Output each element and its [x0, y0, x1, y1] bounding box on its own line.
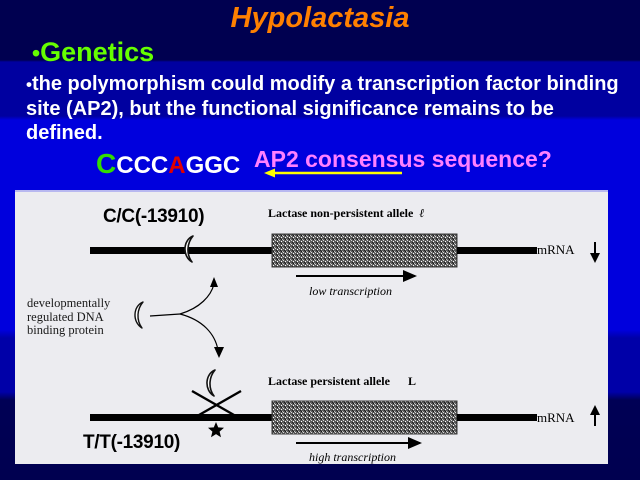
genotype-label-cc: C/C(-13910)	[103, 206, 204, 228]
allele-label-non-persistent: Lactase non-persistent allele ℓ	[268, 206, 424, 221]
figure-panel: C/C(-13910) Lactase non-persistent allel…	[15, 190, 608, 464]
protein-caption-line3: binding protein	[27, 324, 110, 338]
low-transcription-label: low transcription	[309, 284, 392, 299]
slide-title: Hypolactasia	[0, 2, 640, 35]
sequence-base-c1: C	[96, 148, 116, 179]
allele-label-non-persistent-text: Lactase non-persistent allele	[268, 206, 413, 220]
allele-symbol-l-lower: ℓ	[419, 206, 424, 220]
protein-caption: developmentally regulated DNA binding pr…	[27, 297, 110, 338]
allele-symbol-l-upper: L	[408, 374, 416, 388]
sequence-bases-ccc: CCC	[116, 152, 168, 179]
ap2-left-arrow-icon	[262, 167, 404, 179]
protein-caption-line1: developmentally	[27, 297, 110, 311]
sequence-bases-ggc: GGC	[186, 152, 241, 179]
bullet-body: •the polymorphism could modify a transcr…	[26, 72, 622, 145]
bullet-heading-genetics: •Genetics	[32, 37, 154, 68]
sequence-base-a: A	[168, 152, 185, 179]
mrna-label-top: mRNA	[537, 242, 575, 258]
slide-canvas: Hypolactasia •Genetics •the polymorphism…	[0, 0, 640, 480]
protein-caption-line2: regulated DNA	[27, 311, 110, 325]
genotype-label-tt: T/T(-13910)	[83, 432, 180, 454]
high-transcription-label: high transcription	[309, 450, 396, 465]
bullet-heading-label: Genetics	[40, 37, 154, 67]
allele-label-persistent: Lactase persistent allele L	[268, 374, 416, 389]
mrna-label-bottom: mRNA	[537, 410, 575, 426]
allele-label-persistent-text: Lactase persistent allele	[268, 374, 390, 388]
bullet-dot-icon: •	[32, 40, 40, 66]
body-text-label: the polymorphism could modify a transcri…	[26, 73, 619, 144]
consensus-sequence: CCCCAGGC	[96, 148, 240, 180]
